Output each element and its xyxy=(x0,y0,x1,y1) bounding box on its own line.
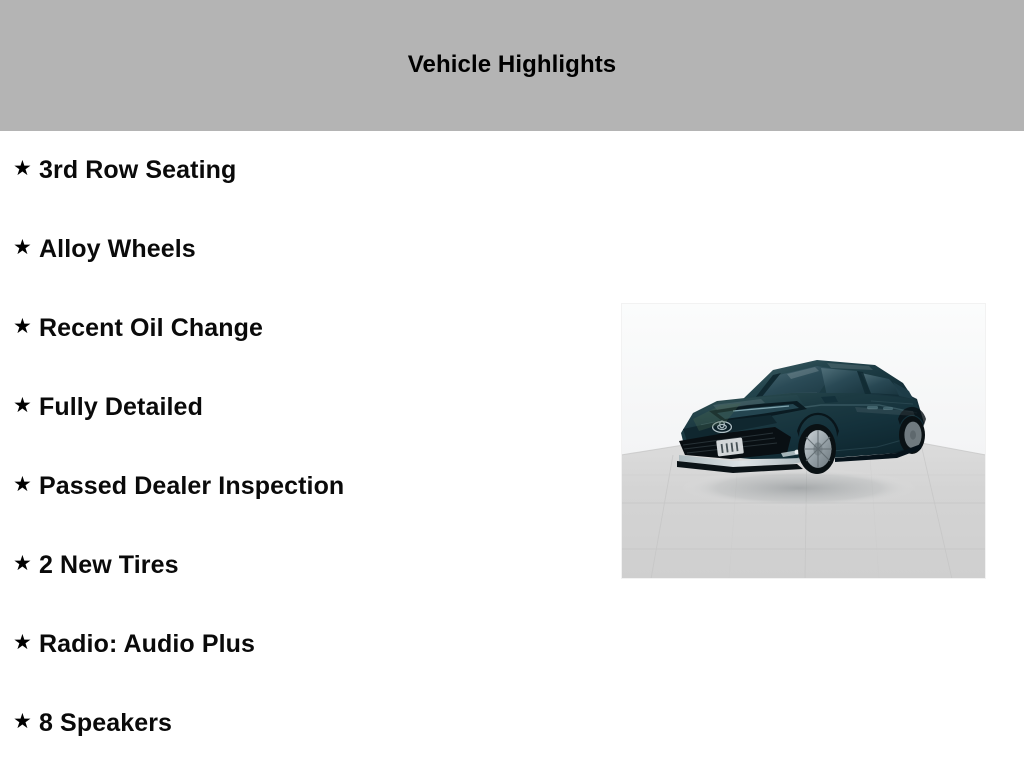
list-item: ★ Fully Detailed xyxy=(0,368,600,447)
highlight-label: Radio: Audio Plus xyxy=(39,632,255,657)
star-bullet-icon: ★ xyxy=(13,474,39,495)
highlight-label: Passed Dealer Inspection xyxy=(39,474,344,499)
vehicle-photo-graphic xyxy=(621,303,986,579)
star-bullet-icon: ★ xyxy=(13,553,39,574)
list-item: ★ Radio: Audio Plus xyxy=(0,605,600,684)
star-bullet-icon: ★ xyxy=(13,395,39,416)
list-item: ★ Alloy Wheels xyxy=(0,210,600,289)
list-item: ★ 8 Speakers xyxy=(0,684,600,763)
star-bullet-icon: ★ xyxy=(13,632,39,653)
page-title: Vehicle Highlights xyxy=(408,53,617,77)
highlight-label: Recent Oil Change xyxy=(39,316,263,341)
page-header: Vehicle Highlights xyxy=(0,0,1024,131)
star-bullet-icon: ★ xyxy=(13,158,39,179)
highlight-label: Fully Detailed xyxy=(39,395,203,420)
vehicle-highlights-list: ★ 3rd Row Seating ★ Alloy Wheels ★ Recen… xyxy=(0,131,600,763)
list-item: ★ 2 New Tires xyxy=(0,526,600,605)
list-item: ★ Passed Dealer Inspection xyxy=(0,447,600,526)
highlight-label: Alloy Wheels xyxy=(39,237,196,262)
highlight-label: 2 New Tires xyxy=(39,553,179,578)
highlight-label: 3rd Row Seating xyxy=(39,158,236,183)
star-bullet-icon: ★ xyxy=(13,237,39,258)
front-wheel xyxy=(798,424,836,474)
star-bullet-icon: ★ xyxy=(13,711,39,732)
highlight-label: 8 Speakers xyxy=(39,711,172,736)
vehicle-photo xyxy=(621,303,986,579)
list-item: ★ Recent Oil Change xyxy=(0,289,600,368)
star-bullet-icon: ★ xyxy=(13,316,39,337)
list-item: ★ 3rd Row Seating xyxy=(0,131,600,210)
